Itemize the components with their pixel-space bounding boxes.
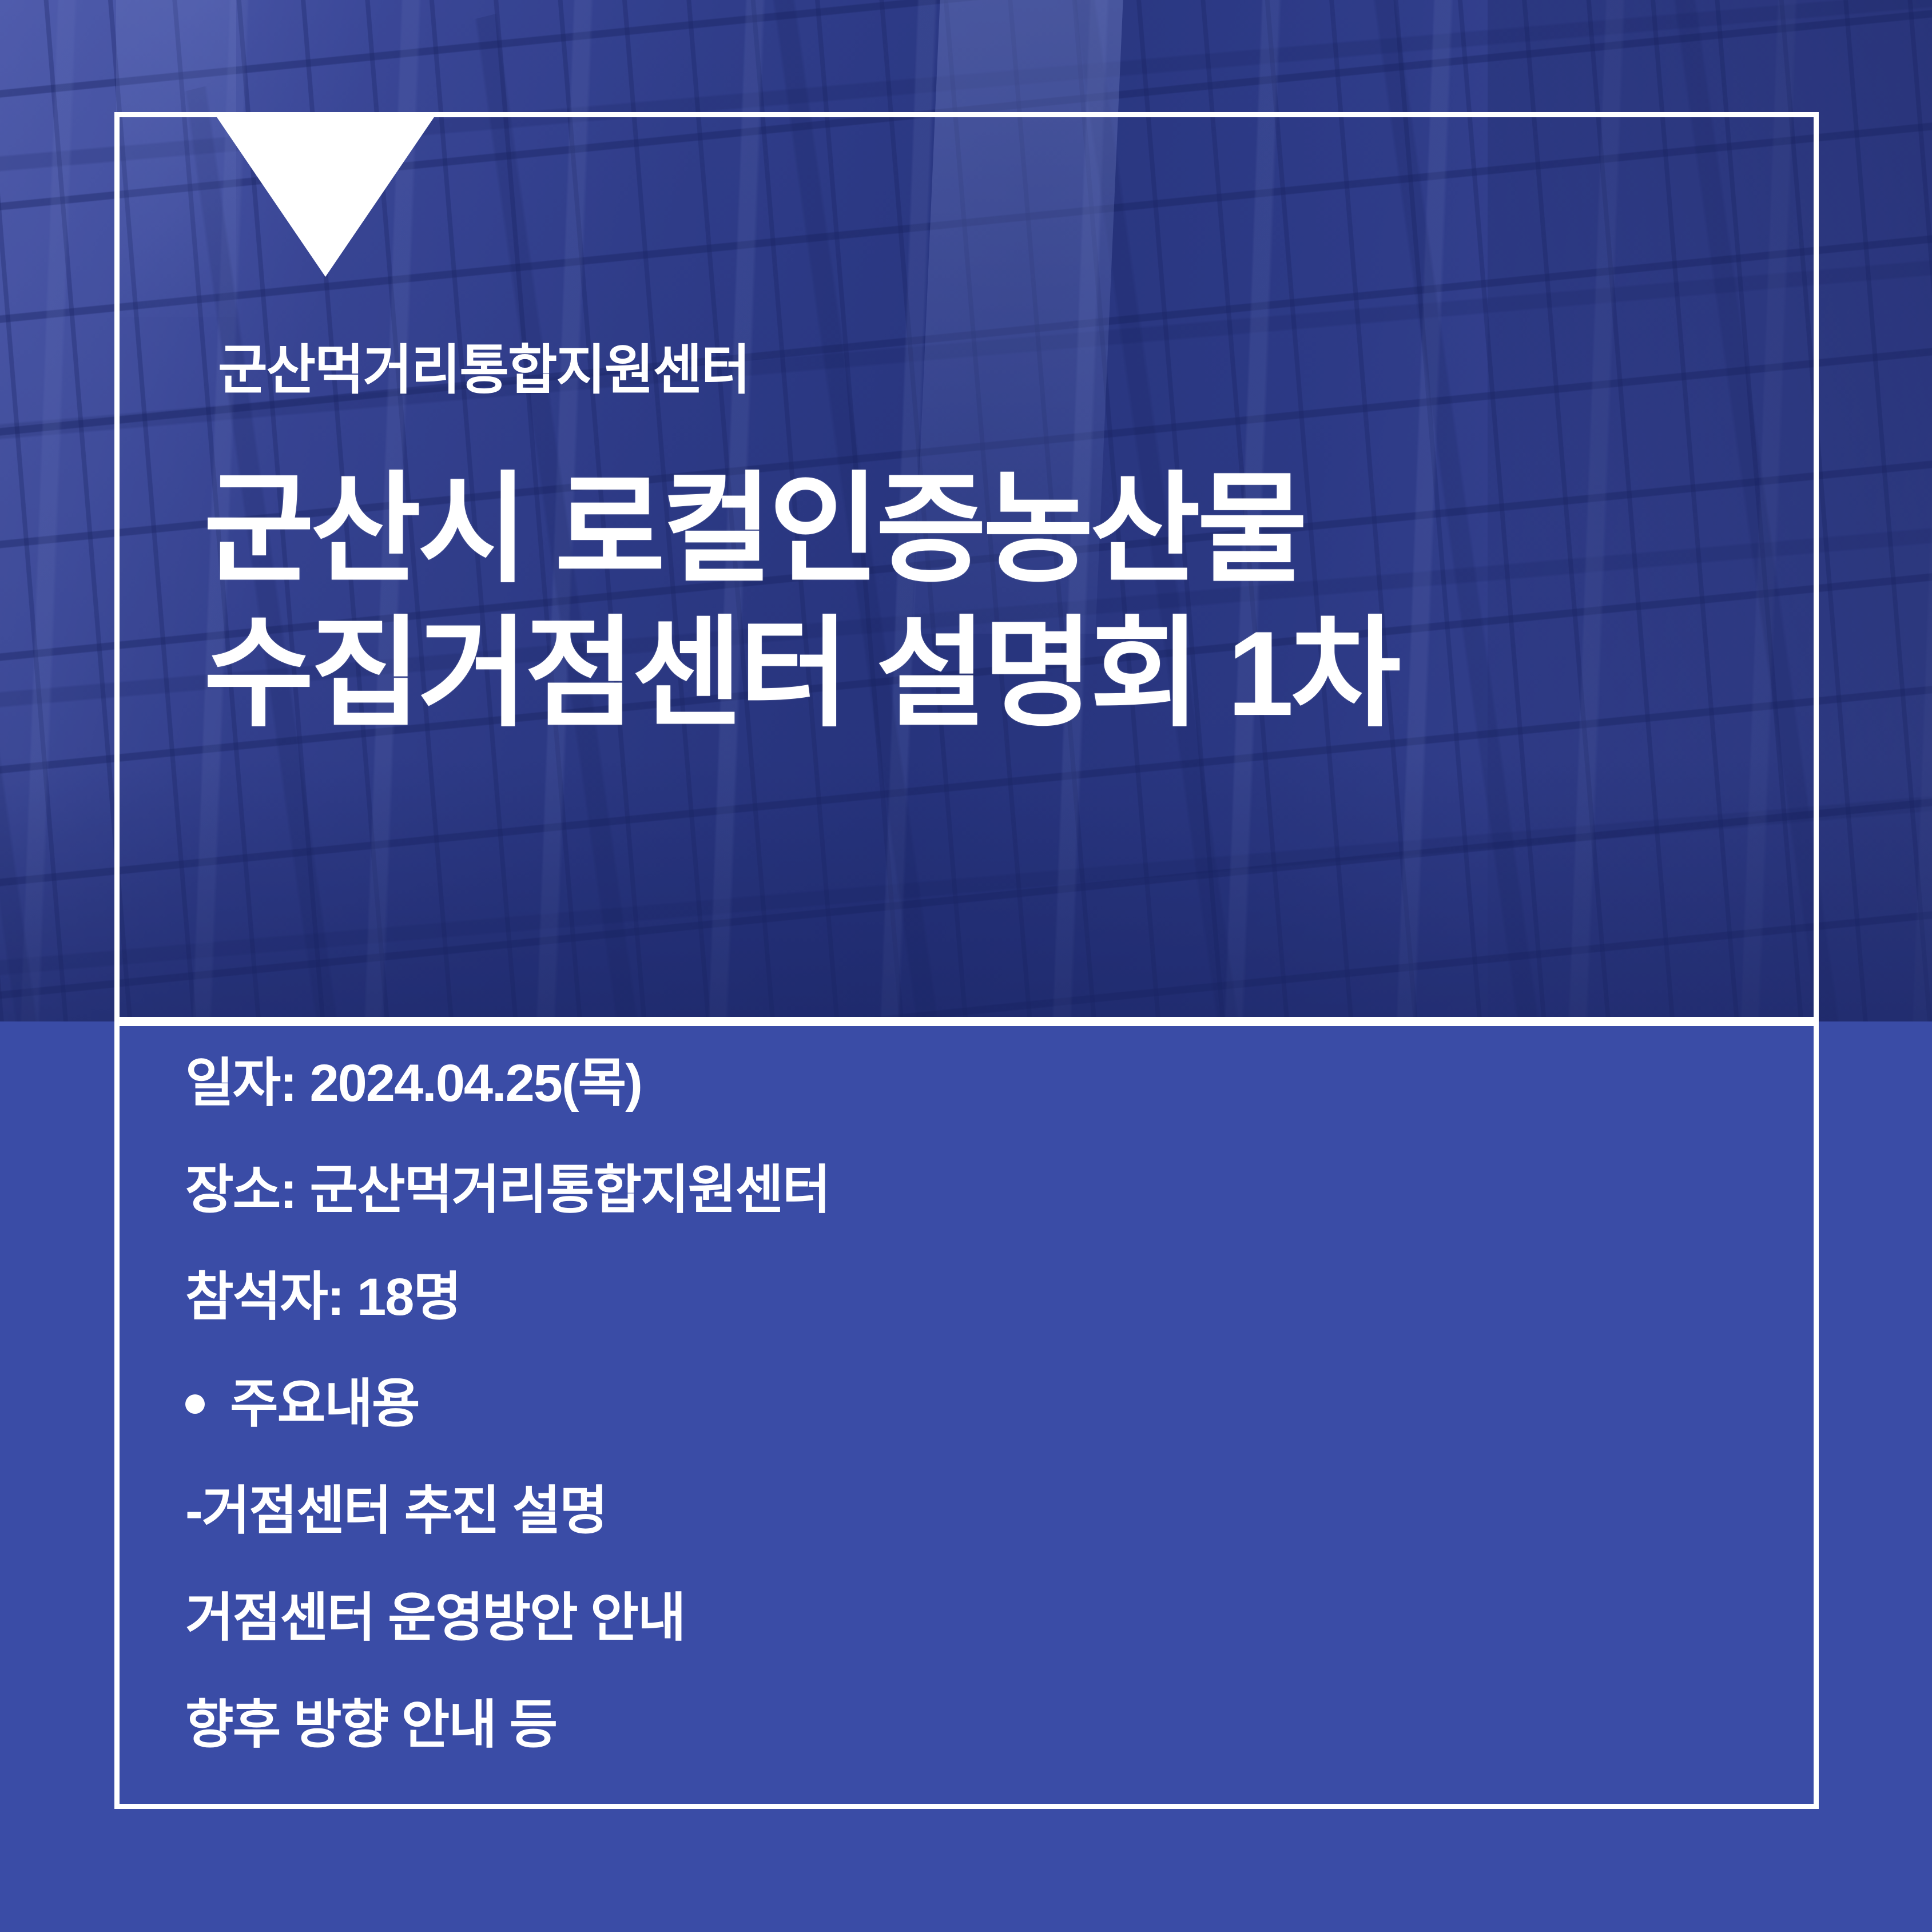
detail-date: 일자: 2024.04.25(목) [185,1057,1672,1110]
page-title-line-2: 수집거점센터 설명회 1차 [204,602,1397,746]
triangle-down-marker-icon [213,112,438,277]
detail-main-contents-label: 주요내용 [230,1378,419,1430]
detail-location: 장소: 군산먹거리통합지원센터 [185,1164,1672,1217]
page-title-line-1: 군산시 로컬인증농산물 [204,458,1397,602]
detail-content-item-3: 향후 방향 안내 등 [185,1699,1672,1751]
detail-attendees: 참석자: 18명 [185,1271,1672,1323]
event-details-list: 일자: 2024.04.25(목) 장소: 군산먹거리통합지원센터 참석자: 1… [185,1057,1672,1751]
bullet-dot-icon [185,1394,205,1414]
detail-main-contents-heading: 주요내용 [185,1378,1672,1430]
organization-subtitle: 군산먹거리통합지원센터 [218,343,749,397]
poster-canvas: 군산먹거리통합지원센터 군산시 로컬인증농산물 수집거점센터 설명회 1차 일자… [0,0,1932,1932]
detail-content-item-1: -거점센터 추진 설명 [185,1485,1672,1537]
horizontal-divider-rule [120,1017,1814,1026]
page-title: 군산시 로컬인증농산물 수집거점센터 설명회 1차 [204,458,1397,746]
detail-content-item-2: 거점센터 운영방안 안내 [185,1592,1672,1644]
